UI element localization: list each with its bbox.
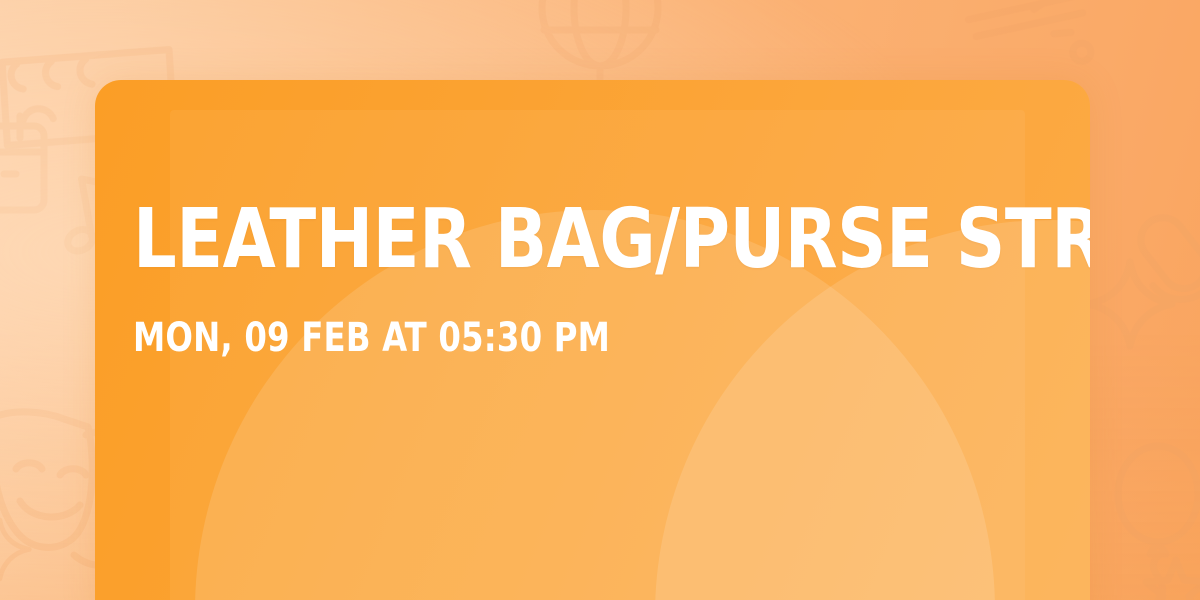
calendar-icon <box>0 116 44 210</box>
sparkle-icon <box>1088 262 1172 346</box>
confetti-icon <box>965 0 1105 68</box>
event-card: Leather Bag/Purse Straps Mon, 09 Feb at … <box>95 80 1090 600</box>
event-datetime: Mon, 09 Feb at 05:30 PM <box>133 318 958 358</box>
card-content: Leather Bag/Purse Straps Mon, 09 Feb at … <box>133 200 1050 358</box>
sparkle-icon <box>0 520 29 579</box>
balloon-icon <box>1118 446 1198 600</box>
event-banner: Leather Bag/Purse Straps Mon, 09 Feb at … <box>0 0 1200 600</box>
event-title: Leather Bag/Purse Straps <box>133 200 986 280</box>
star-icon <box>1146 560 1200 600</box>
microphone-icon <box>1121 200 1200 342</box>
